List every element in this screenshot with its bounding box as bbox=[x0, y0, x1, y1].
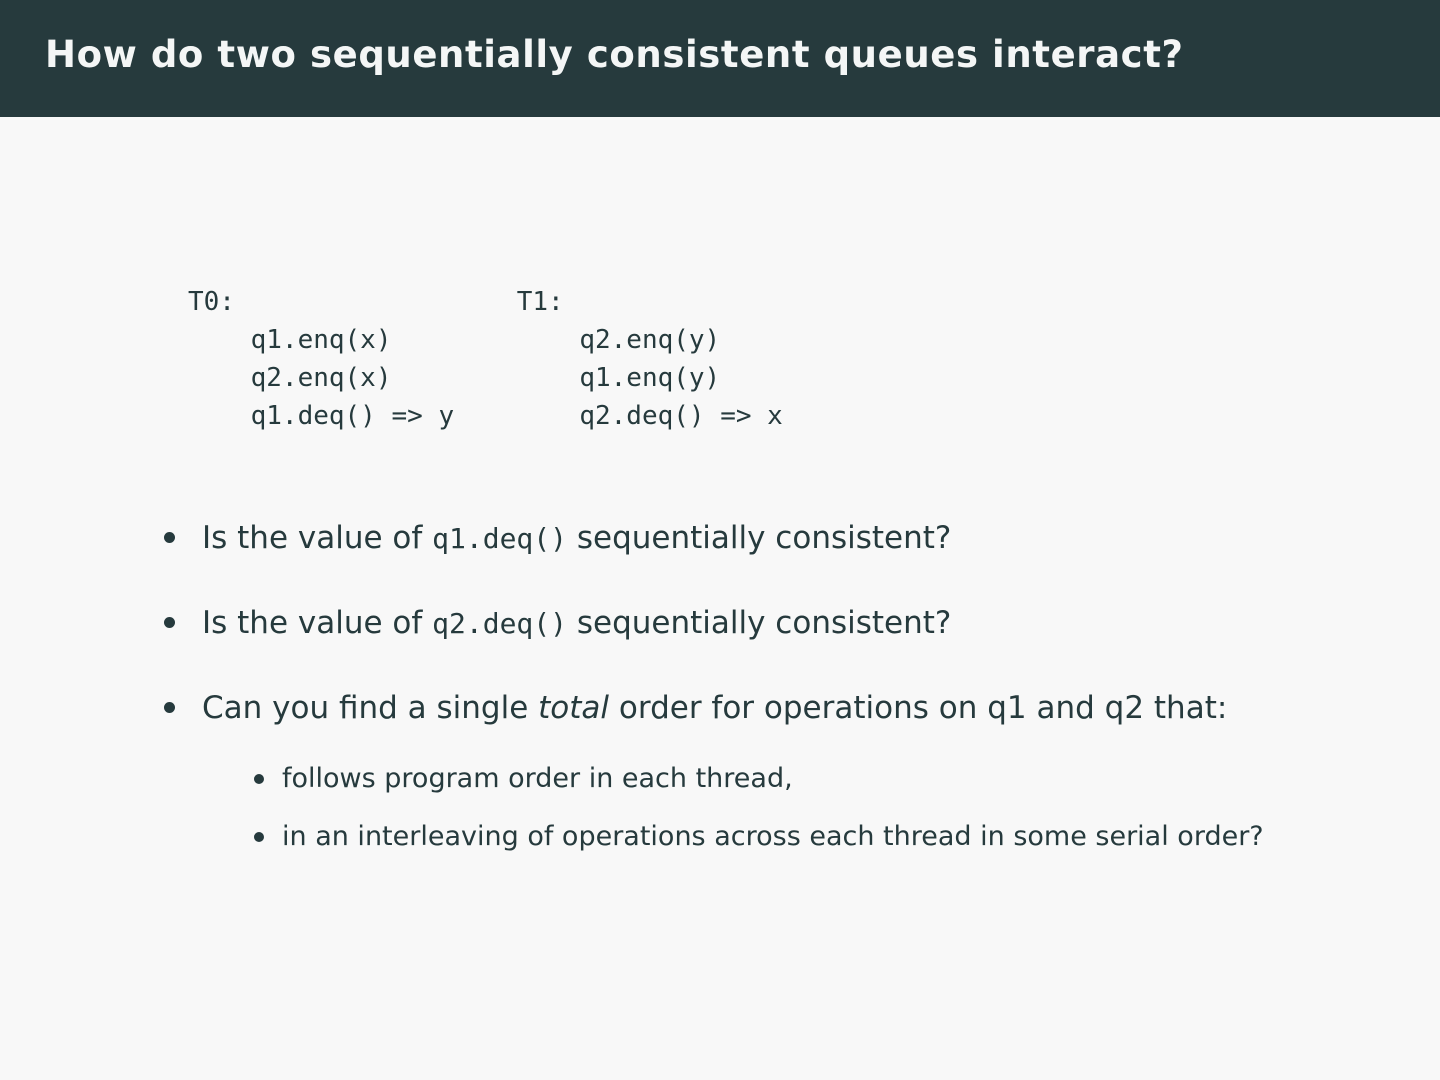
slide: How do two sequentially consistent queue… bbox=[0, 0, 1440, 1080]
sub-list-item: in an interleaving of operations across … bbox=[246, 810, 1350, 864]
bullet-dot-icon bbox=[254, 832, 264, 842]
inline-code: q2.deq() bbox=[432, 607, 567, 640]
bullet-text-prefix: Can you find a single bbox=[202, 690, 538, 726]
bullet-dot-icon bbox=[164, 702, 175, 713]
page-title: How do two sequentially consistent queue… bbox=[45, 33, 1184, 76]
bullet-text-suffix: sequentially consistent? bbox=[567, 605, 951, 641]
bullet-text-suffix: order for operations on q1 and q2 that: bbox=[609, 690, 1227, 726]
thread-code-block: T0: T1: q1.enq(x) q2.enq(y) q2.enq(x) q1… bbox=[188, 283, 783, 435]
bullet-dot-icon bbox=[254, 774, 264, 784]
bullet-text: Can you find a single total order for op… bbox=[202, 680, 1350, 736]
slide-title-bar: How do two sequentially consistent queue… bbox=[0, 0, 1440, 117]
bullet-text-prefix: Is the value of bbox=[202, 605, 432, 641]
bullet-text-emphasis: total bbox=[538, 690, 609, 726]
question-bullet-list: Is the value of q1.deq() sequentially co… bbox=[150, 510, 1350, 868]
list-item: Is the value of q2.deq() sequentially co… bbox=[150, 595, 1350, 652]
sub-bullet-list: follows program order in each thread, in… bbox=[202, 752, 1350, 864]
bullet-dot-icon bbox=[164, 617, 175, 628]
list-item: Can you find a single total order for op… bbox=[150, 680, 1350, 864]
sub-bullet-text: in an interleaving of operations across … bbox=[282, 821, 1264, 852]
bullet-text: Is the value of q2.deq() sequentially co… bbox=[202, 595, 1350, 652]
bullet-text: Is the value of q1.deq() sequentially co… bbox=[202, 510, 1350, 567]
sub-bullet-text: follows program order in each thread, bbox=[282, 763, 793, 794]
list-item: Is the value of q1.deq() sequentially co… bbox=[150, 510, 1350, 567]
bullet-text-suffix: sequentially consistent? bbox=[567, 520, 951, 556]
bullet-dot-icon bbox=[164, 532, 175, 543]
bullet-text-prefix: Is the value of bbox=[202, 520, 432, 556]
sub-list-item: follows program order in each thread, bbox=[246, 752, 1350, 806]
inline-code: q1.deq() bbox=[432, 522, 567, 555]
